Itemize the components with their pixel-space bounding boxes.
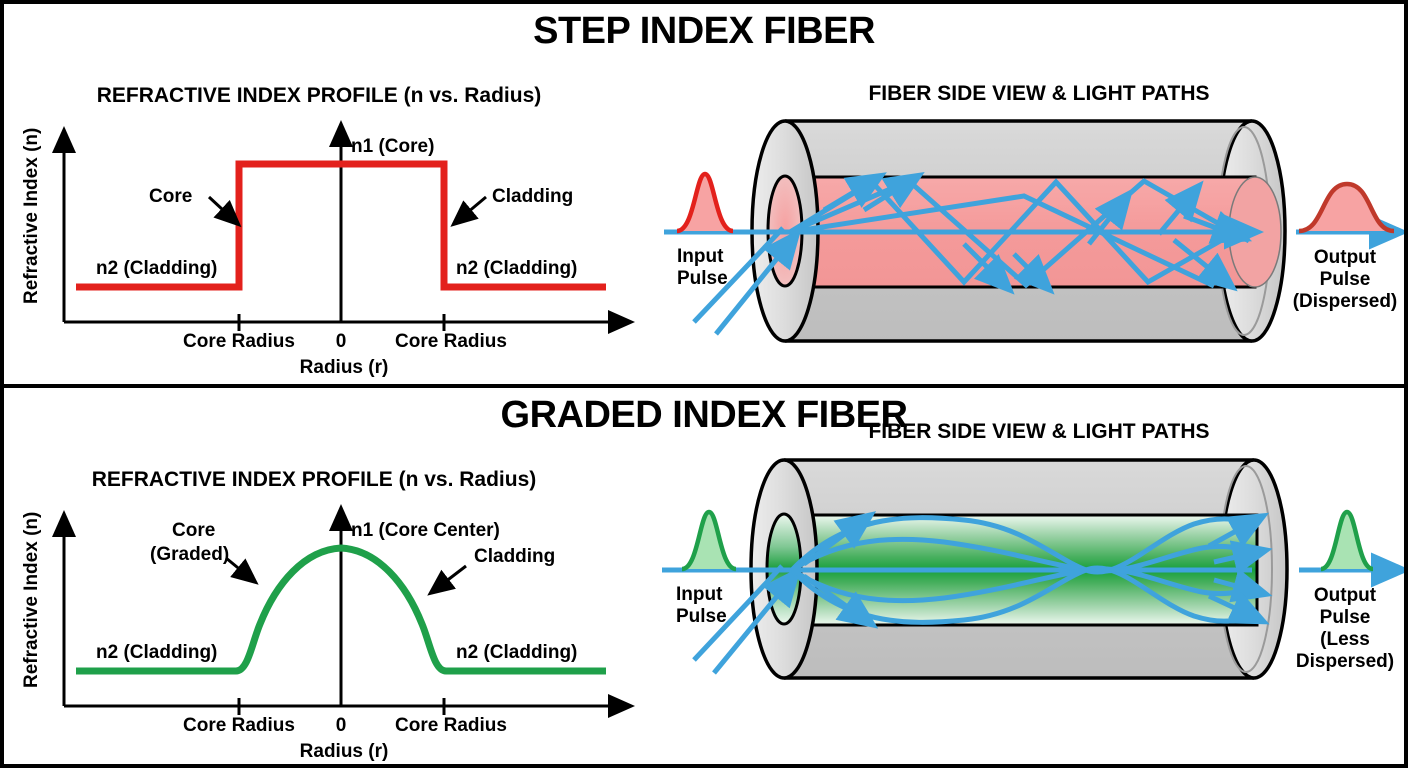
step-output-pulse — [1296, 184, 1394, 232]
step-panel-graphics: REFRACTIVE INDEX PROFILE (n vs. Radius) … — [4, 4, 1404, 384]
step-input-label-line1: Input — [677, 246, 724, 267]
graded-y-axis-label: Refractive Index (n) — [21, 512, 42, 688]
step-input-pulse — [664, 174, 744, 232]
graded-input-label-line1: Input — [676, 584, 723, 605]
step-tick-left-label: Core Radius — [183, 331, 295, 352]
step-input-pulse-curve — [677, 174, 733, 231]
graded-callout-core-arrow — [226, 558, 254, 581]
step-callout-core-label: Core — [149, 186, 192, 207]
graded-output-label-line2: Pulse — [1320, 607, 1371, 628]
step-tick-center-label: 0 — [336, 331, 347, 352]
graded-right-plateau-label: n2 (Cladding) — [456, 642, 577, 663]
graded-output-label-line3: (Less — [1320, 629, 1370, 650]
step-profile-heading: REFRACTIVE INDEX PROFILE (n vs. Radius) — [97, 84, 542, 107]
graded-output-pulse — [1299, 512, 1396, 570]
graded-output-label-line4: Dispersed) — [1296, 651, 1394, 672]
panel-graded-index: GRADED INDEX FIBER — [4, 388, 1404, 768]
graded-peak-label: n1 (Core Center) — [351, 520, 500, 541]
step-output-label-line1: Output — [1314, 247, 1377, 268]
step-callout-cladding-label: Cladding — [492, 186, 573, 207]
graded-input-label-line2: Pulse — [676, 606, 727, 627]
graded-output-label-line1: Output — [1314, 585, 1377, 606]
graded-callout-core-line2: (Graded) — [150, 544, 229, 565]
step-peak-label: n1 (Core) — [351, 136, 434, 157]
step-input-label-line2: Pulse — [677, 268, 728, 289]
step-callout-core-arrow — [209, 197, 237, 223]
graded-fiber-heading: FIBER SIDE VIEW & LIGHT PATHS — [868, 420, 1209, 443]
graded-panel-graphics: REFRACTIVE INDEX PROFILE (n vs. Radius) … — [4, 388, 1404, 768]
graded-tick-right-label: Core Radius — [395, 715, 507, 736]
step-fiber-view: FIBER SIDE VIEW & LIGHT PATHS — [664, 82, 1397, 341]
panel-step-index: STEP INDEX FIBER — [4, 4, 1404, 384]
graded-callout-core-line1: Core — [172, 520, 215, 541]
graded-input-pulse-curve — [682, 512, 736, 569]
step-output-label-line3: (Dispersed) — [1293, 291, 1398, 312]
step-tick-right-label: Core Radius — [395, 331, 507, 352]
step-left-plateau-label: n2 (Cladding) — [96, 258, 217, 279]
step-y-axis-label: Refractive Index (n) — [21, 128, 42, 304]
step-x-axis-label: Radius (r) — [300, 357, 389, 378]
graded-output-pulse-curve — [1321, 512, 1373, 569]
graded-callout-cladding-arrow — [432, 566, 466, 592]
diagram-root: STEP INDEX FIBER — [0, 0, 1408, 768]
step-output-pulse-curve — [1299, 184, 1394, 231]
graded-fiber-view: FIBER SIDE VIEW & LIGHT PATHS — [662, 420, 1396, 678]
step-callout-cladding-arrow — [455, 197, 486, 223]
step-output-label-line2: Pulse — [1320, 269, 1371, 290]
graded-profile-heading: REFRACTIVE INDEX PROFILE (n vs. Radius) — [92, 468, 537, 491]
step-fiber-heading: FIBER SIDE VIEW & LIGHT PATHS — [868, 82, 1209, 105]
graded-left-plateau-label: n2 (Cladding) — [96, 642, 217, 663]
graded-input-pulse — [662, 512, 744, 570]
graded-x-axis-label: Radius (r) — [300, 741, 389, 762]
graded-tick-center-label: 0 — [336, 715, 347, 736]
graded-callout-cladding-label: Cladding — [474, 546, 555, 567]
graded-tick-left-label: Core Radius — [183, 715, 295, 736]
step-profile-chart: REFRACTIVE INDEX PROFILE (n vs. Radius) … — [21, 84, 629, 378]
graded-profile-chart: REFRACTIVE INDEX PROFILE (n vs. Radius) … — [21, 468, 629, 762]
step-right-plateau-label: n2 (Cladding) — [456, 258, 577, 279]
